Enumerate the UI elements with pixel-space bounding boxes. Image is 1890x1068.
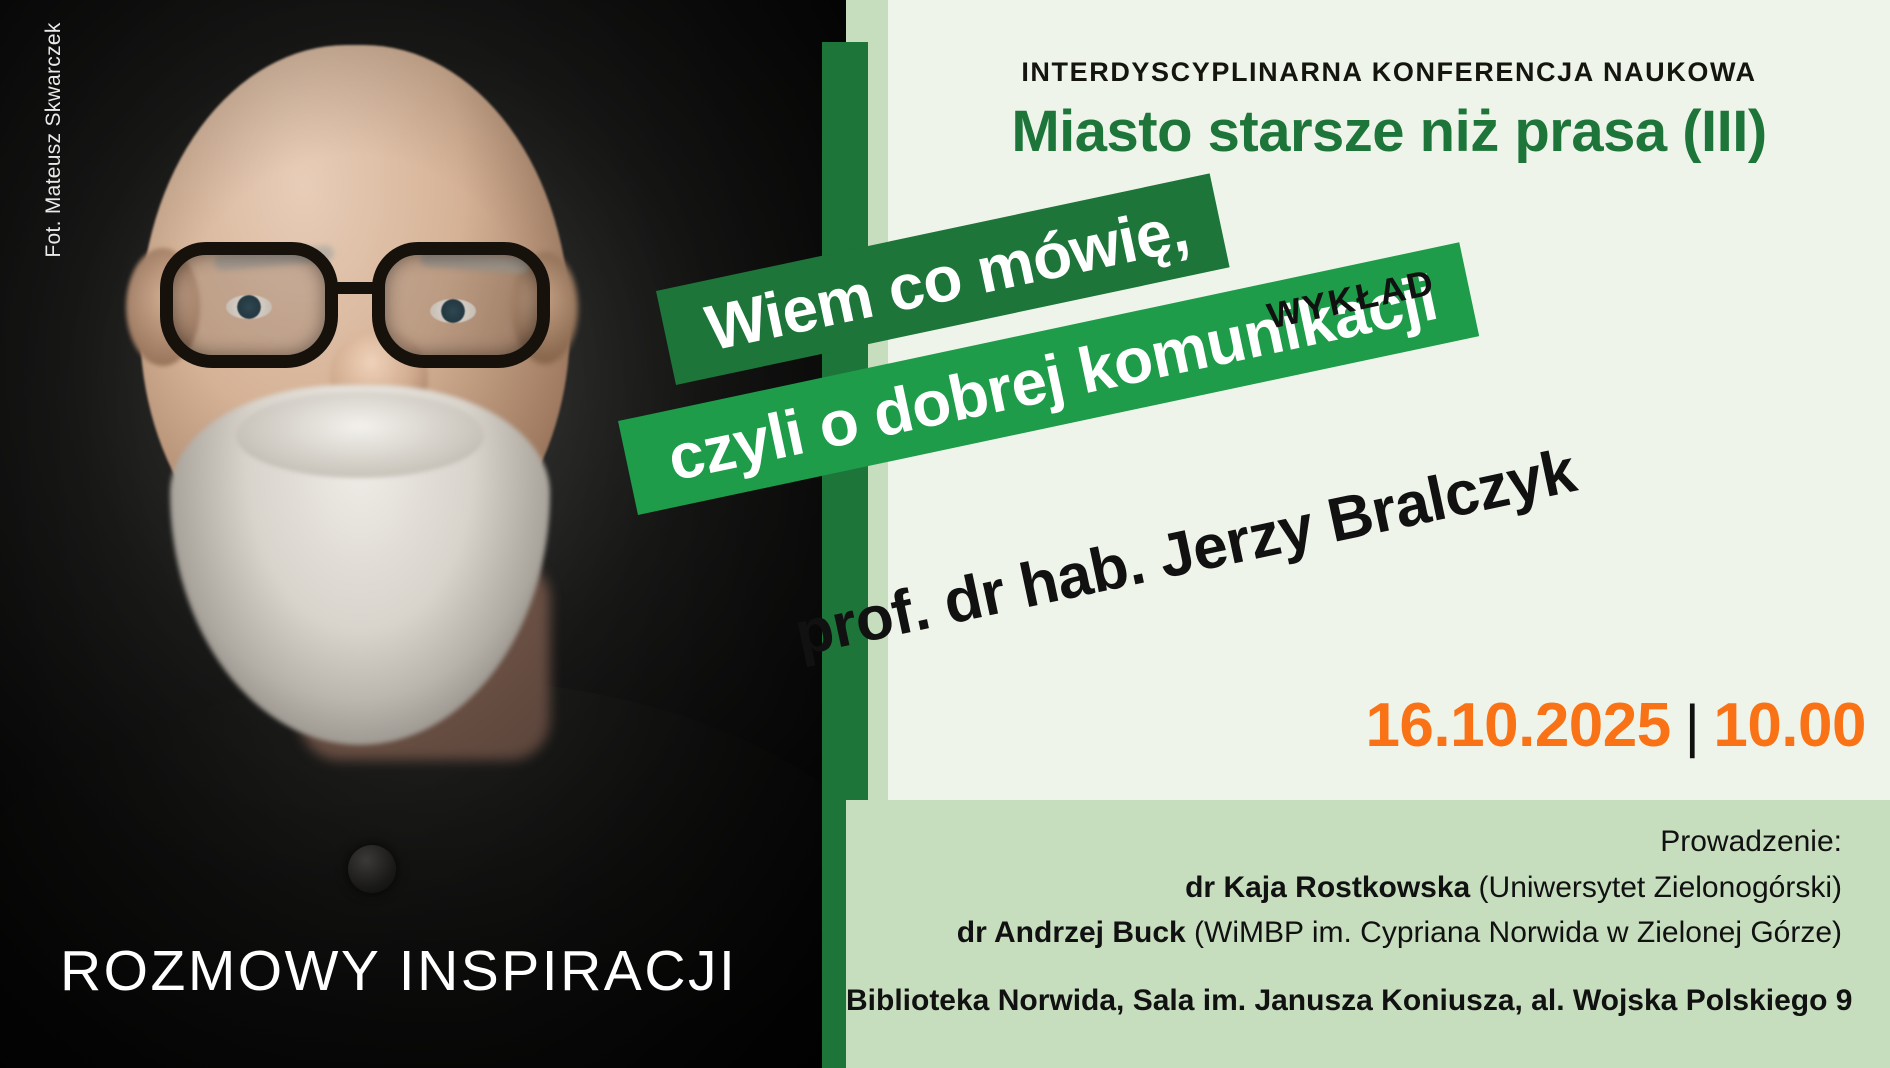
schedule-datetime: 16.10.2025|10.00: [888, 690, 1866, 761]
photo-glasses: [160, 242, 560, 372]
schedule-time: 10.00: [1713, 691, 1866, 760]
photo-moustache: [236, 392, 484, 478]
venue-line: Biblioteka Norwida, Sala im. Janusza Kon…: [846, 984, 1866, 1018]
credits-lead: Prowadzenie:: [846, 822, 1842, 862]
host-name-2: dr Andrzej Buck: [957, 916, 1186, 949]
host-affiliation-1: (Uniwersytet Zielonogórski): [1470, 871, 1842, 904]
glasses-lens-left: [160, 242, 338, 368]
series-title: ROZMOWY INSPIRACJI: [60, 938, 737, 1004]
glasses-lens-right: [372, 242, 550, 368]
glasses-bridge: [334, 282, 380, 294]
host-name-1: dr Kaja Rostkowska: [1185, 871, 1470, 904]
schedule-date: 16.10.2025: [1365, 691, 1670, 760]
credits-block: Prowadzenie: dr Kaja Rostkowska (Uniwers…: [846, 822, 1866, 953]
photo-coat-button: [348, 845, 396, 893]
speaker-photo: Fot. Mateusz Skwarczek ROZMOWY INSPIRACJ…: [0, 0, 846, 1068]
host-affiliation-2: (WiMBP im. Cypriana Norwida w Zielonej G…: [1186, 916, 1842, 949]
schedule-separator: |: [1671, 694, 1714, 759]
page-title: Miasto starsze niż prasa (III): [888, 98, 1890, 165]
photo-credit: Fot. Mateusz Skwarczek: [42, 0, 66, 280]
host-row-2: dr Andrzej Buck (WiMBP im. Cypriana Norw…: [846, 913, 1842, 953]
host-row-1: dr Kaja Rostkowska (Uniwersytet Zielonog…: [846, 868, 1842, 908]
conference-poster: Fot. Mateusz Skwarczek ROZMOWY INSPIRACJ…: [0, 0, 1890, 1068]
conference-kicker: INTERDYSCYPLINARNA KONFERENCJA NAUKOWA: [888, 57, 1890, 88]
